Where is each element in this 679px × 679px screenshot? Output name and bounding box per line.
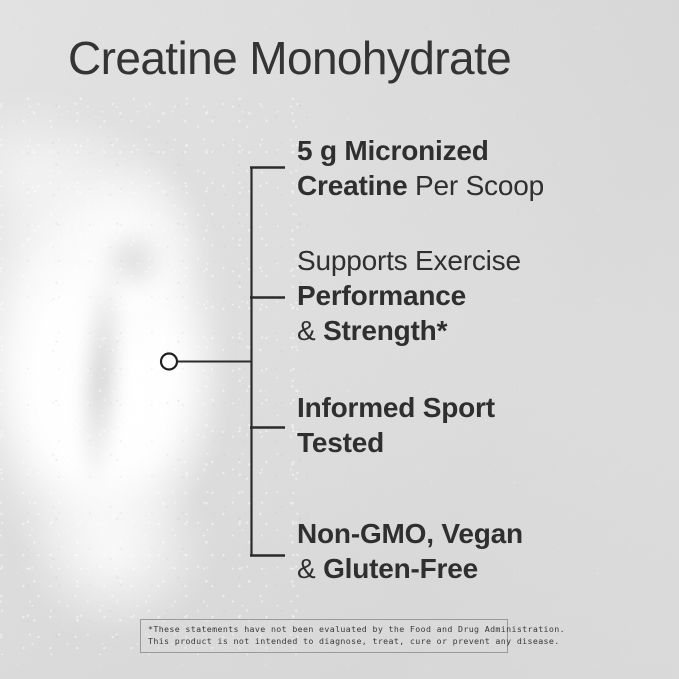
feature-dose: 5 g Micronized Creatine Per Scoop: [297, 133, 544, 203]
feature-dietary-line-2: & Gluten-Free: [297, 551, 523, 586]
feature-performance-line-2: Performance: [297, 278, 521, 313]
page-title: Creatine Monohydrate: [68, 33, 511, 83]
feature-dietary-line-1: Non-GMO, Vegan: [297, 516, 523, 551]
feature-performance-line-3: & Strength*: [297, 313, 521, 348]
fda-disclaimer: *These statements have not been evaluate…: [140, 619, 508, 653]
feature-dietary: Non-GMO, Vegan & Gluten-Free: [297, 516, 523, 586]
feature-performance: Supports Exercise Performance & Strength…: [297, 243, 521, 348]
feature-performance-line-1: Supports Exercise: [297, 243, 521, 278]
feature-informed-sport-line-2: Tested: [297, 425, 495, 460]
fda-disclaimer-line-1: *These statements have not been evaluate…: [148, 624, 500, 636]
feature-informed-sport-line-1: Informed Sport: [297, 390, 495, 425]
fda-disclaimer-line-2: This product is not intended to diagnose…: [148, 636, 500, 648]
feature-dose-line-2: Creatine Per Scoop: [297, 168, 544, 203]
product-infographic: Creatine Monohydrate 5 g Micronized Crea…: [0, 0, 679, 679]
feature-informed-sport: Informed Sport Tested: [297, 390, 495, 460]
feature-dose-line-1: 5 g Micronized: [297, 133, 544, 168]
